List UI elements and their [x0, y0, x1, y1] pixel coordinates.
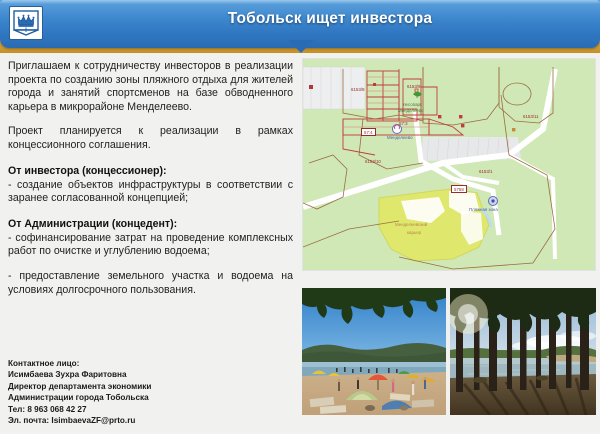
map-label-quarry-type: карьер — [407, 230, 421, 235]
administration-text-2: - предоставление земельного участка и во… — [8, 270, 293, 297]
map-label-57-4: 57:4 — [361, 128, 376, 136]
concession-paragraph: Проект планируется к реализации в рамках… — [8, 125, 293, 152]
contact-label: Контактное лицо: — [8, 358, 268, 369]
contact-phone: Тел: 8 963 068 42 27 — [8, 404, 268, 415]
investor-heading: От инвестора (концессионер): — [8, 164, 293, 178]
map-label-mendeleevo-poi: Менделеево — [387, 135, 413, 140]
map-label-6153-11: 6153/11 — [523, 114, 539, 119]
contact-block: Контактное лицо: Исимбаева Зухра Фаритов… — [8, 358, 268, 426]
contact-name: Исимбаева Зухра Фаритовна — [8, 369, 268, 380]
beach-photo[interactable] — [302, 288, 446, 415]
map-label-6153-8: 6153/8 — [351, 87, 364, 92]
administration-section: От Администрации (концедент): - софинанс… — [8, 217, 293, 297]
map-label-57-3: 57:3 — [399, 121, 408, 126]
tobolsk-coat-of-arms-icon — [9, 6, 43, 40]
map-label-6153-1: 6153/1 — [479, 169, 492, 174]
investor-text: - создание объектов инфраструктуры в соо… — [8, 179, 293, 206]
map-label-6153-10: 6153/10 — [365, 159, 381, 164]
administration-text: - софинансирование затрат на проведение … — [8, 232, 293, 259]
map-label-lesopark: лесопарк — [403, 102, 422, 107]
forest-photo[interactable] — [450, 288, 596, 415]
map-label-quarry-name: Менделеевский — [395, 222, 427, 227]
cadastral-map[interactable]: 6153/8 6153/9 лесопарк Менделеево 6153/1… — [302, 58, 596, 271]
header-sheen — [0, 0, 600, 4]
contact-position: Директор департамента экономики — [8, 381, 268, 392]
intro-paragraph: Приглашаем к сотрудничеству инвесторов в… — [8, 60, 293, 114]
map-label-mendeleevo-park: Менделеево — [398, 108, 424, 113]
administration-heading: От Администрации (концедент): — [8, 217, 293, 231]
page-title: Тобольск ищет инвестора — [80, 10, 580, 28]
map-label-beach-zone: Пляжная зона — [469, 207, 498, 212]
map-label-5758: 5758 — [451, 185, 467, 193]
map-label-6153-9: 6153/9 — [407, 84, 420, 89]
description-text-column: Приглашаем к сотрудничеству инвесторов в… — [8, 60, 293, 308]
contact-organization: Администрации города Тобольска — [8, 392, 268, 403]
presentation-slide: Тобольск ищет инвестора Приглашаем к сот… — [0, 0, 600, 434]
investor-section: От инвестора (концессионер): - создание … — [8, 164, 293, 206]
contact-email: Эл. почта: IsimbaevaZF@prto.ru — [8, 415, 268, 426]
